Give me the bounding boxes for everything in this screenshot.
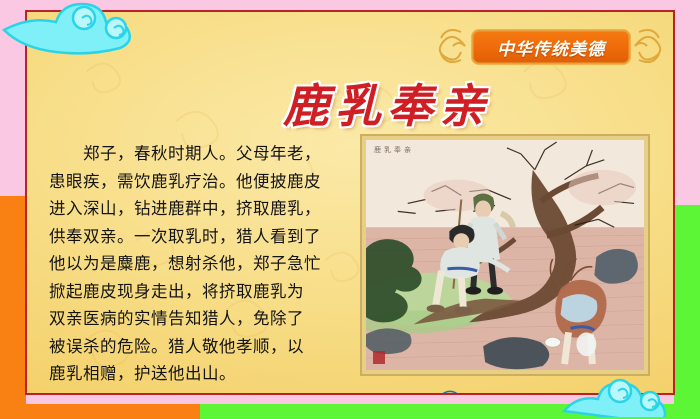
virtue-banner: 中华传统美德	[435, 22, 665, 70]
poster-root: 中华传统美德 鹿乳奉亲 郑子，春秋时期人。父母年老， 患眼疾，需饮鹿乳疗治。他便…	[0, 0, 700, 419]
illustration-painting: 鹿乳奉亲	[366, 140, 644, 370]
title-container: 鹿乳奉亲	[242, 72, 532, 134]
story-line: 郑子，春秋时期人。父母年老，	[49, 140, 344, 168]
painting-artwork	[366, 140, 644, 370]
painting-caption: 鹿乳奉亲	[374, 145, 414, 155]
story-line: 他以为是麋鹿，想射杀他，郑子急忙	[49, 250, 344, 278]
border-band-green-bottom	[0, 404, 700, 419]
story-line: 进入深山，钻进鹿群中，挤取鹿乳，	[49, 195, 344, 223]
story-line: 双亲医病的实情告知猎人，免除了	[49, 305, 344, 333]
border-band-orange-bottom-left	[0, 404, 200, 419]
story-line: 供奉双亲。一次取乳时，猎人看到了	[49, 223, 344, 251]
page-title: 鹿乳奉亲	[283, 70, 491, 136]
illustration-frame: 鹿乳奉亲	[360, 134, 650, 376]
banner-plate: 中华传统美德	[471, 29, 631, 65]
school-name-label: 肥城市陶阳矿学校	[471, 391, 607, 395]
footer-credit: 肥城市陶阳矿学校	[437, 390, 607, 395]
story-line: 鹿乳相赠，护送他出山。	[49, 360, 344, 388]
school-emblem-icon	[437, 390, 463, 395]
story-line: 患眼疾，需饮鹿乳疗治。他便披鹿皮	[49, 168, 344, 196]
poster-card: 中华传统美德 鹿乳奉亲 郑子，春秋时期人。父母年老， 患眼疾，需饮鹿乳疗治。他便…	[25, 10, 675, 395]
border-band-orange-left	[0, 196, 26, 419]
story-line: 被误杀的危险。猎人敬他孝顺，以	[49, 333, 344, 361]
story-text-block: 郑子，春秋时期人。父母年老， 患眼疾，需饮鹿乳疗治。他便披鹿皮 进入深山，钻进鹿…	[49, 140, 344, 388]
story-line: 掀起鹿皮现身走出，将挤取鹿乳为	[49, 278, 344, 306]
artist-seal-icon	[373, 351, 385, 364]
border-band-green-right	[674, 205, 700, 419]
banner-label: 中华传统美德	[497, 35, 605, 60]
